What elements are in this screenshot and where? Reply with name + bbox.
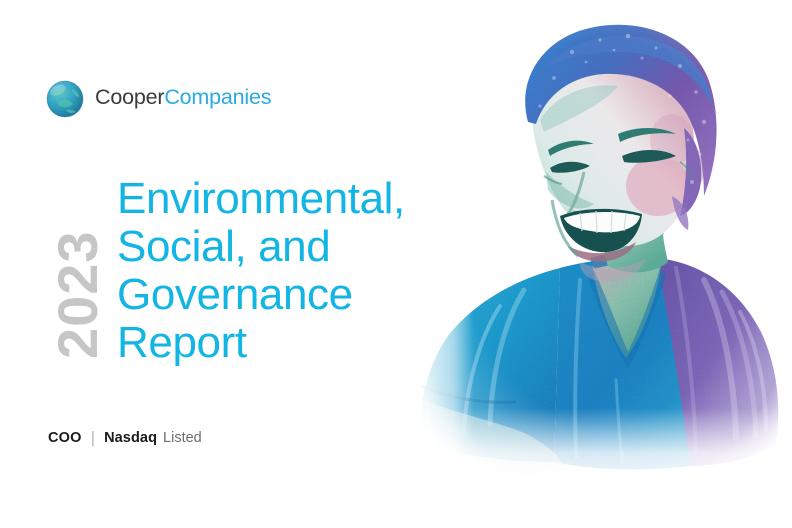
logo-wordmark: CooperCompanies <box>95 87 271 111</box>
title-line-2: Social, and <box>117 223 447 271</box>
page-title: Environmental, Social, and Governance Re… <box>117 175 447 367</box>
esg-report-cover: CooperCompanies 2023 Environmental, Soci… <box>0 0 792 528</box>
title-line-4: Report <box>117 319 447 367</box>
stock-ticker-listing: COO | Nasdaq Listed <box>48 430 202 447</box>
title-line-1: Environmental, <box>117 175 447 223</box>
logo-wordmark-primary: Cooper <box>95 85 164 109</box>
portrait-photo <box>404 0 792 500</box>
globe-icon <box>46 80 84 118</box>
title-line-3: Governance <box>117 271 447 319</box>
logo-wordmark-secondary: Companies <box>164 85 271 109</box>
ticker-symbol: COO <box>48 431 82 446</box>
ticker-exchange: Nasdaq <box>104 431 157 446</box>
report-year: 2023 <box>50 177 106 359</box>
ticker-divider: | <box>91 429 95 446</box>
ticker-status: Listed <box>163 431 202 446</box>
cooper-companies-logo: CooperCompanies <box>46 80 271 118</box>
